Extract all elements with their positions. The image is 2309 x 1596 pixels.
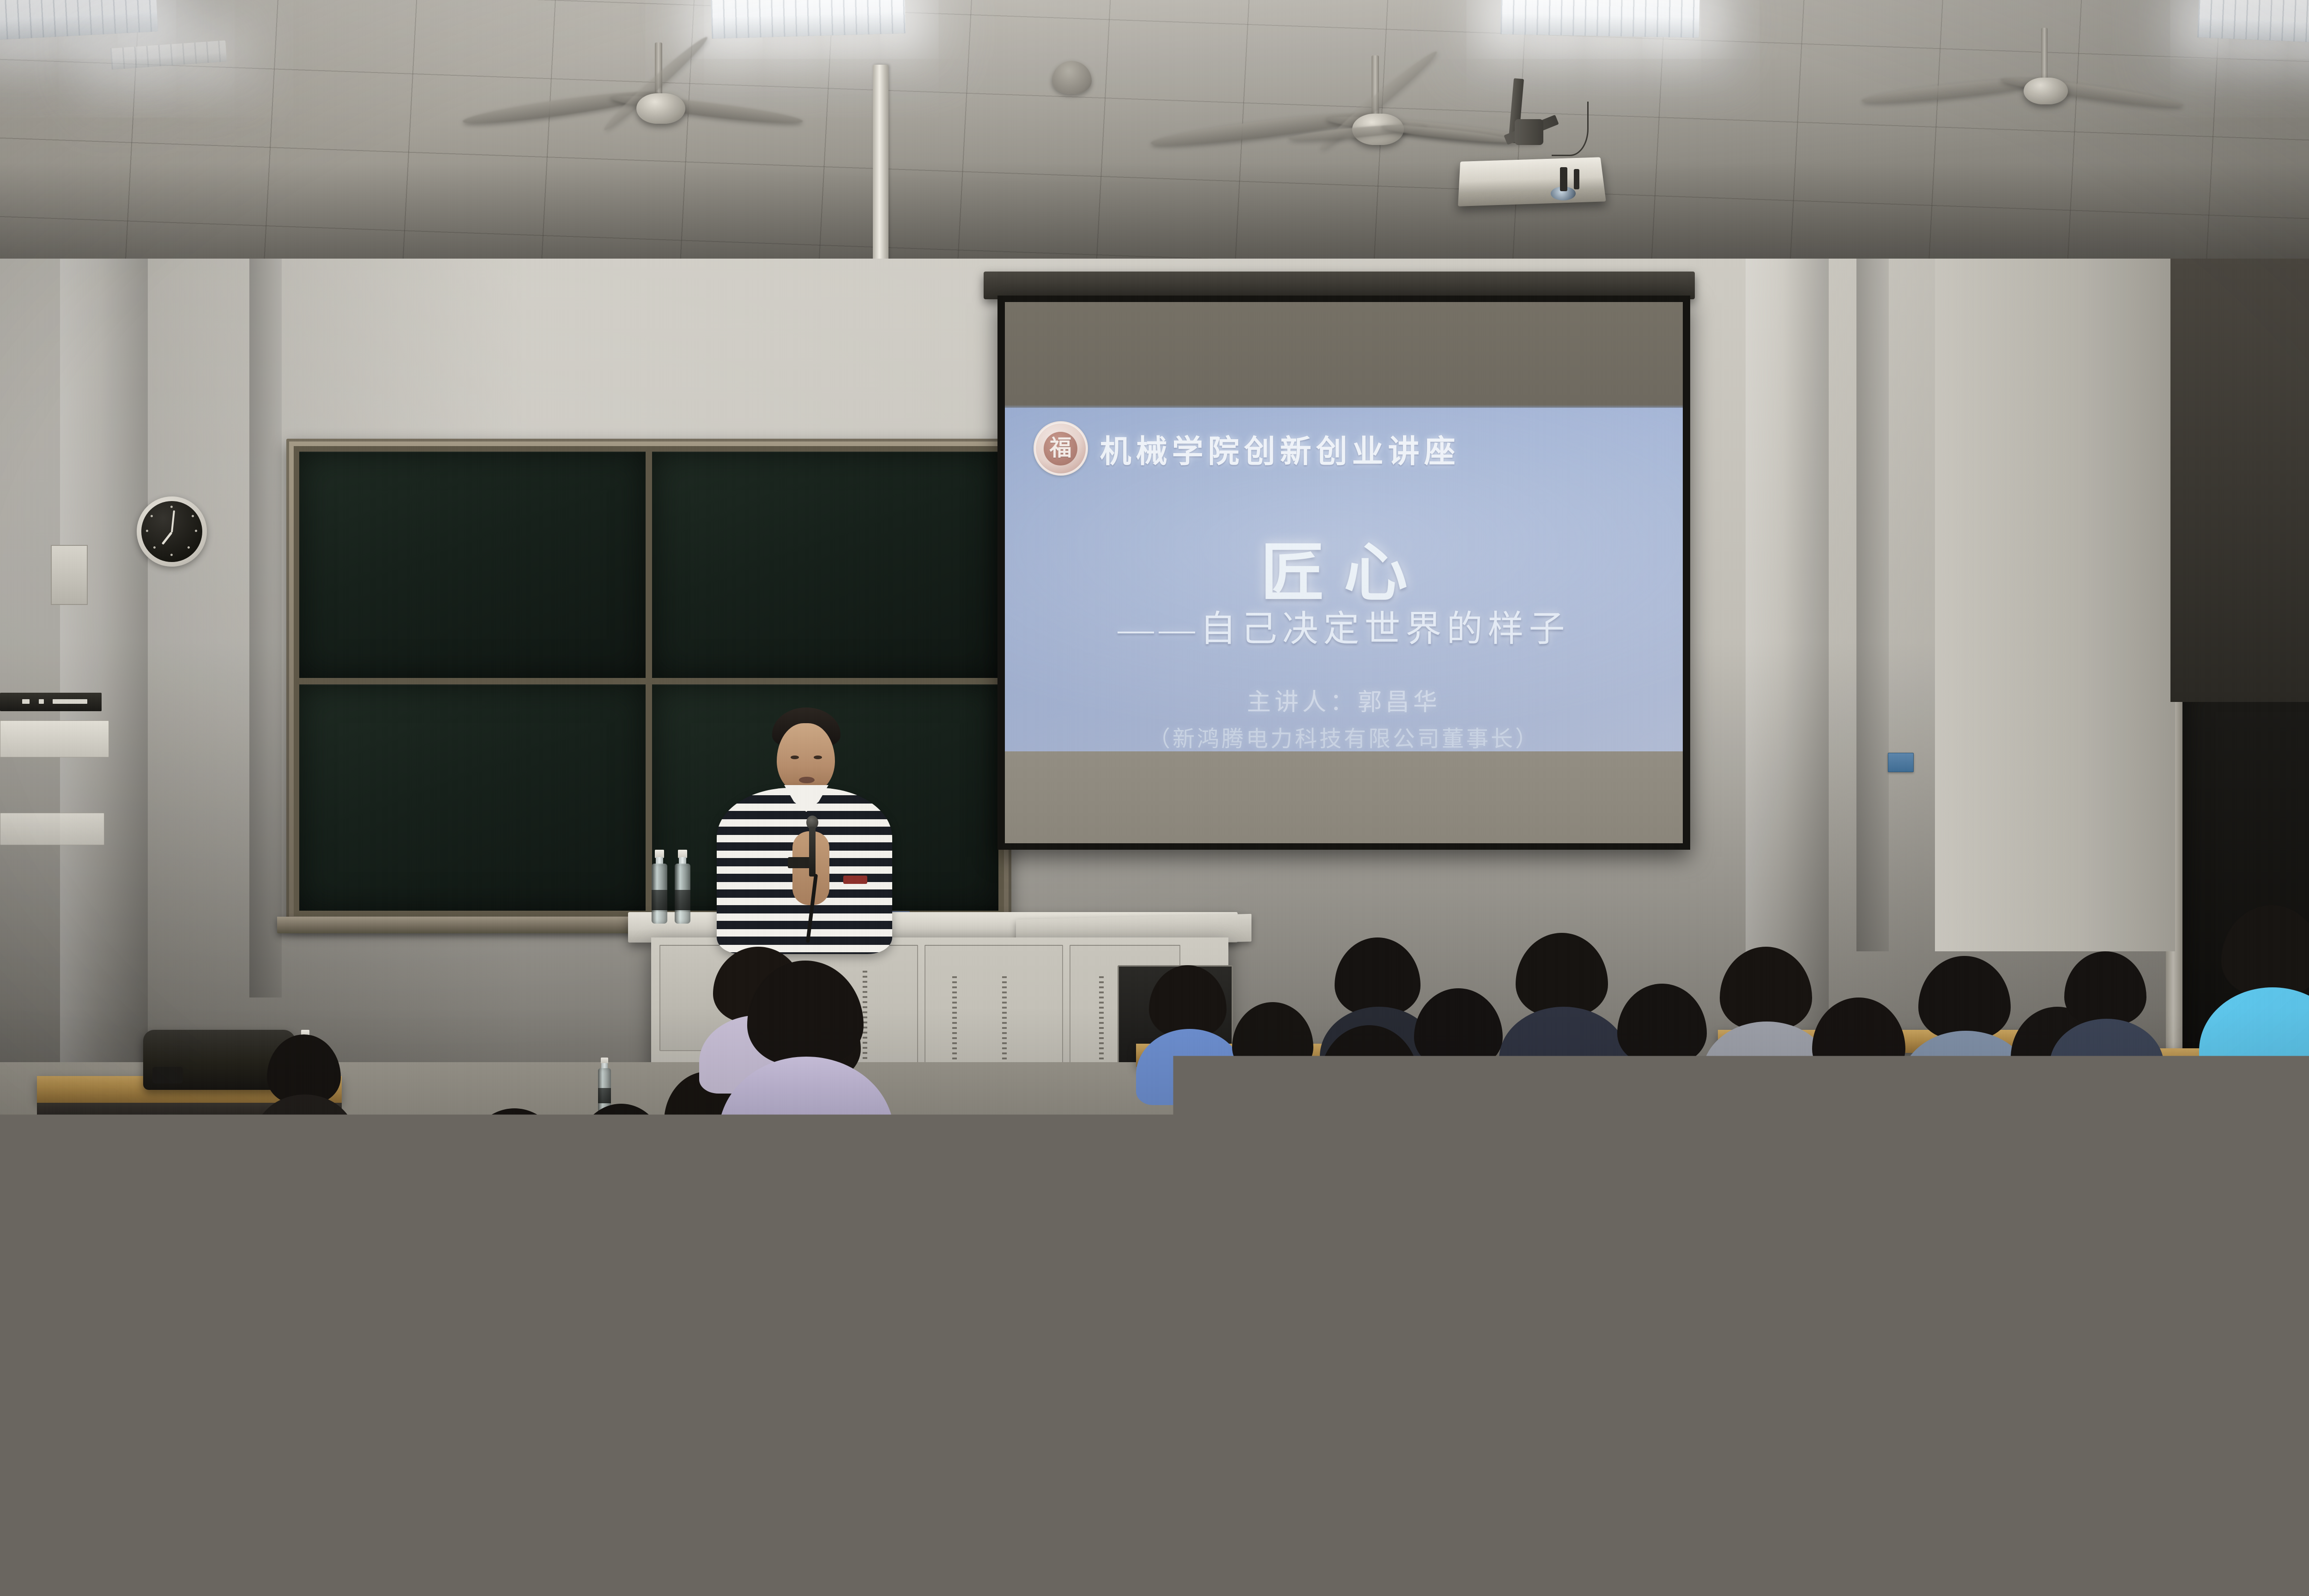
slide-header: 福 机械学院创新创业讲座 — [1034, 421, 1460, 476]
necklace — [1251, 1353, 1307, 1369]
audience-person — [259, 1034, 351, 1164]
audience-person — [2055, 951, 2157, 1090]
slide-header-text: 机械学院创新创业讲座 — [1100, 426, 1460, 472]
blackboard-panel — [299, 452, 646, 678]
audience-person — [1182, 1238, 1348, 1469]
slide-subtitle: ——自己决定世界的样子 — [1005, 600, 1683, 652]
audience-person — [785, 1339, 961, 1596]
wall-clock — [137, 496, 207, 567]
audience-person — [2180, 1108, 2309, 1312]
audience-person — [2207, 905, 2309, 1090]
slide-title: 匠心 — [1005, 521, 1683, 613]
audience-person — [1007, 1395, 1191, 1596]
right-wall-panel — [1935, 259, 2175, 951]
ceiling-fan — [531, 69, 790, 148]
presentation-slide: 福 机械学院创新创业讲座 匠心 ——自己决定世界的样子 主讲人：郭昌华 （新鸿腾… — [1005, 408, 1683, 751]
wall-pillar — [1746, 259, 1829, 1044]
lecture-hall-photo: 福 机械学院创新创业讲座 匠心 ——自己决定世界的样子 主讲人：郭昌华 （新鸿腾… — [0, 0, 2309, 1596]
audience-person — [0, 1385, 157, 1596]
audience-person — [1367, 1265, 1542, 1505]
audience-person — [1893, 1071, 2032, 1265]
speaker-person — [707, 711, 901, 951]
audience-person — [1141, 965, 1238, 1099]
paper-sheet — [502, 1494, 606, 1567]
ceiling-fan — [1916, 55, 2175, 134]
wall-plate — [0, 813, 104, 845]
projection-screen-housing — [984, 272, 1695, 299]
seal-character: 福 — [1050, 437, 1072, 459]
audience-person — [199, 1413, 365, 1596]
wall-pillar — [60, 259, 148, 1090]
blackboard-panel — [652, 452, 998, 678]
audience-person — [730, 961, 882, 1182]
wall-pillar — [1856, 259, 1889, 951]
audience-person — [1750, 1108, 1889, 1302]
water-bottle — [28, 1187, 54, 1275]
wall-pillar — [249, 259, 282, 997]
chair-knob — [679, 1441, 705, 1467]
audience-person — [1561, 1284, 1741, 1533]
projection-screen-surface: 福 机械学院创新创业讲座 匠心 ——自己决定世界的样子 主讲人：郭昌华 （新鸿腾… — [1005, 302, 1683, 843]
blue-wall-notice — [1888, 753, 1914, 772]
chair-back[interactable] — [683, 1275, 794, 1367]
audience-person — [1505, 933, 1621, 1090]
slide-organization-line: （新鸿腾电力科技有限公司董事长） — [1005, 720, 1683, 753]
blackboard-panel — [299, 684, 646, 911]
water-bottle — [672, 850, 693, 924]
slide-speaker-line: 主讲人：郭昌华 — [1005, 683, 1683, 717]
wall-plate — [0, 720, 109, 757]
right-upper-dark-wall — [2170, 259, 2309, 702]
projection-screen[interactable]: 福 机械学院创新创业讲座 匠心 ——自己决定世界的样子 主讲人：郭昌华 （新鸿腾… — [997, 296, 1690, 850]
audience-person — [2244, 1284, 2309, 1596]
water-bottle — [649, 850, 670, 924]
wall-sign-strip — [0, 693, 102, 711]
ceiling-projector — [1459, 139, 1612, 226]
ceiling — [0, 0, 2309, 296]
university-seal-icon: 福 — [1034, 421, 1088, 476]
shirt-print-text: IN G — [1332, 1159, 1424, 1188]
audience-person — [1764, 1321, 1958, 1596]
audience-person — [2032, 1127, 2180, 1330]
audience-person — [2000, 1348, 2203, 1596]
audience-person: IN G — [1307, 1025, 1432, 1210]
wall-electrical-panel — [51, 545, 88, 605]
audience-person — [513, 1293, 656, 1496]
desk-row — [0, 1136, 259, 1167]
